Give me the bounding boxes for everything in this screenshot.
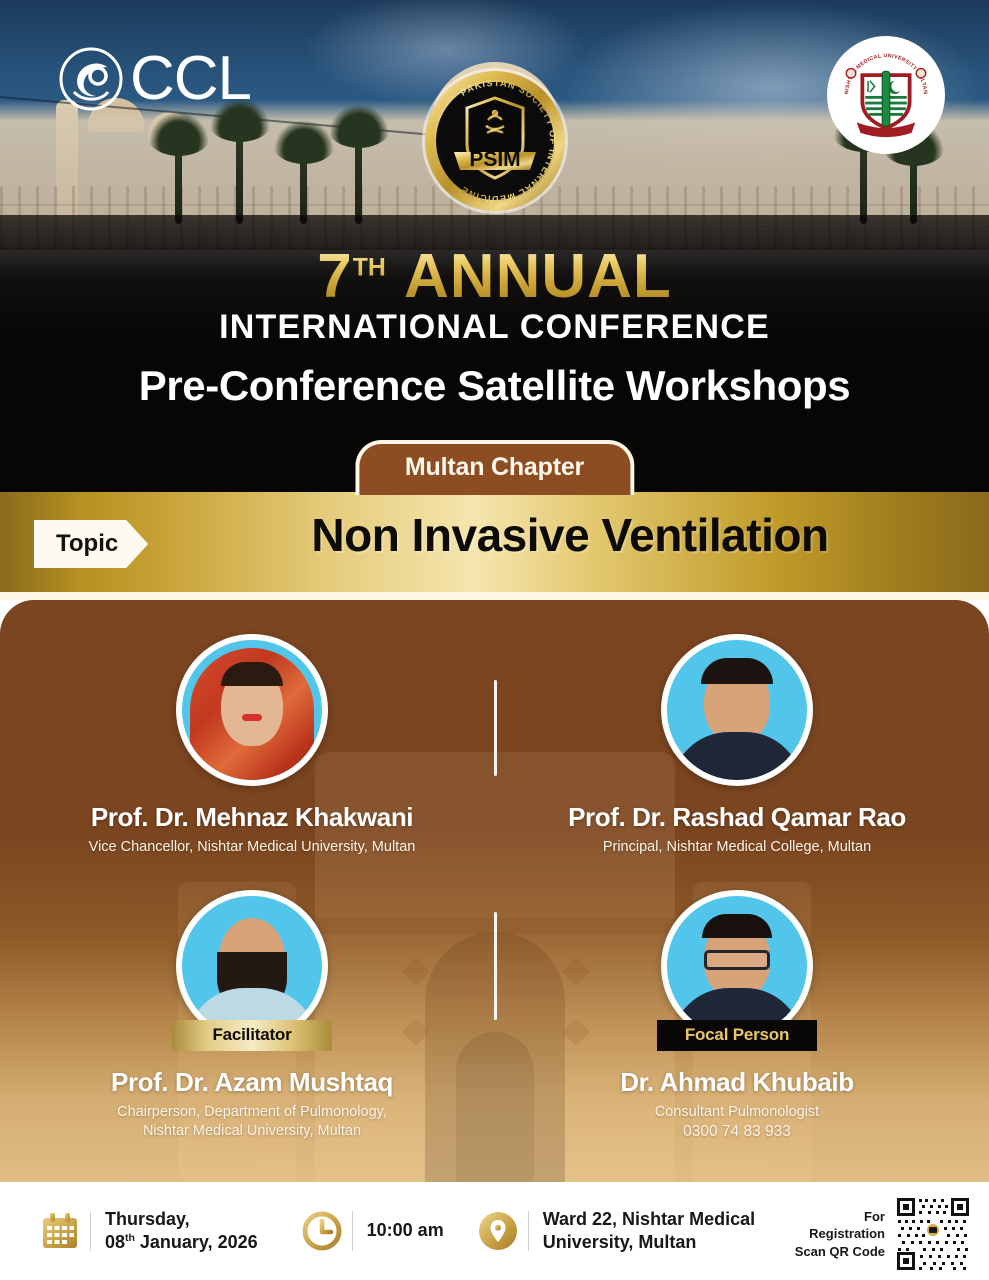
speaker-name: Prof. Dr. Azam Mushtaq	[42, 1067, 462, 1098]
speaker-role: Vice Chancellor, Nishtar Medical Univers…	[42, 838, 462, 857]
page-title-annual: 7TH ANNUAL	[0, 246, 989, 308]
date-weekday: Thursday,	[105, 1209, 190, 1229]
chapter-badge: Multan Chapter	[355, 440, 634, 495]
column-divider	[494, 912, 497, 1020]
topic-title: Non Invasive Ventilation	[190, 508, 950, 562]
divider	[528, 1211, 529, 1251]
avatar-lips	[242, 714, 262, 721]
venue-line-2: University, Multan	[543, 1232, 697, 1252]
speaker-role: Consultant Pulmonologist	[527, 1103, 947, 1122]
palm-tree-icon	[175, 128, 182, 224]
palm-tree-icon	[355, 120, 362, 224]
avatar	[176, 634, 328, 786]
date-day-suffix: th	[125, 1233, 135, 1244]
ccl-wordmark: CCL	[130, 48, 251, 110]
clock-icon	[302, 1211, 342, 1251]
speaker-name: Prof. Dr. Rashad Qamar Rao	[527, 802, 947, 833]
speaker-name: Dr. Ahmad Khubaib	[527, 1067, 947, 1098]
time-text: 10:00 am	[367, 1219, 444, 1242]
footer-venue: Ward 22, Nishtar Medical University, Mul…	[478, 1208, 755, 1254]
speaker-badge-facilitator: Facilitator	[172, 1020, 332, 1051]
column-divider	[494, 680, 497, 776]
divider	[352, 1211, 353, 1251]
palm-tree-icon	[236, 114, 243, 224]
speaker-phone: 0300 74 83 933	[527, 1123, 947, 1141]
location-pin-icon	[478, 1211, 518, 1251]
avatar	[661, 634, 813, 786]
ccl-swirl-icon	[58, 46, 124, 112]
subtitle-pre-conference: Pre-Conference Satellite Workshops	[0, 362, 989, 410]
qr-label: For Registration Scan QR Code	[795, 1208, 885, 1259]
topic-tag: Topic	[34, 520, 148, 568]
date-day: 08	[105, 1232, 125, 1252]
qr-registration-block[interactable]: For Registration Scan QR Code	[795, 1196, 971, 1272]
qr-label-line-2: Registration	[809, 1226, 885, 1241]
ordinal-number: 7	[317, 242, 352, 311]
venue-line-1: Ward 22, Nishtar Medical	[543, 1209, 755, 1229]
date-text: Thursday, 08th January, 2026	[105, 1208, 258, 1254]
palm-tree-icon	[300, 136, 307, 224]
avatar-suit	[671, 732, 803, 786]
divider	[90, 1211, 91, 1251]
qr-label-line-1: For	[864, 1209, 885, 1224]
nishtar-university-logo: NISHTAR MEDICAL UNIVERSITY MULTAN	[827, 36, 945, 154]
speaker-card: Prof. Dr. Mehnaz Khakwani Vice Chancello…	[42, 634, 462, 857]
psim-banner-text: PSIM	[469, 148, 520, 171]
ordinal-suffix: TH	[353, 254, 386, 281]
date-month-year: January, 2026	[135, 1232, 258, 1252]
subtitle-international-conference: INTERNATIONAL CONFERENCE	[0, 308, 989, 347]
qr-code-icon[interactable]	[895, 1196, 971, 1272]
speaker-card: Focal Person Dr. Ahmad Khubaib Consultan…	[527, 890, 947, 1141]
qr-label-line-3: Scan QR Code	[795, 1244, 885, 1259]
conference-poster: CCL PAKISTAN SOCIETY OF INTERNAL MEDICIN…	[0, 0, 989, 1280]
speaker-badge-focal-person: Focal Person	[657, 1020, 817, 1051]
speaker-card: Facilitator Prof. Dr. Azam Mushtaq Chair…	[42, 890, 462, 1141]
speaker-card: Prof. Dr. Rashad Qamar Rao Principal, Ni…	[527, 634, 947, 857]
footer-date: Thursday, 08th January, 2026	[40, 1208, 258, 1254]
venue-text: Ward 22, Nishtar Medical University, Mul…	[543, 1208, 755, 1254]
speaker-role: Chairperson, Department of Pulmonology, …	[42, 1103, 462, 1141]
annual-word: ANNUAL	[404, 242, 672, 311]
speaker-name: Prof. Dr. Mehnaz Khakwani	[42, 802, 462, 833]
ccl-logo: CCL	[58, 46, 251, 112]
footer-time: 10:00 am	[302, 1211, 444, 1251]
palm-tree-icon	[910, 138, 917, 224]
avatar-hair	[701, 658, 773, 684]
avatar-hair	[702, 914, 772, 938]
psim-logo: PAKISTAN SOCIETY OF INTERNAL MEDICINE PS…	[420, 66, 570, 216]
calendar-icon	[40, 1211, 80, 1251]
speaker-role: Principal, Nishtar Medical College, Mult…	[527, 838, 947, 857]
avatar-glasses	[704, 950, 770, 970]
